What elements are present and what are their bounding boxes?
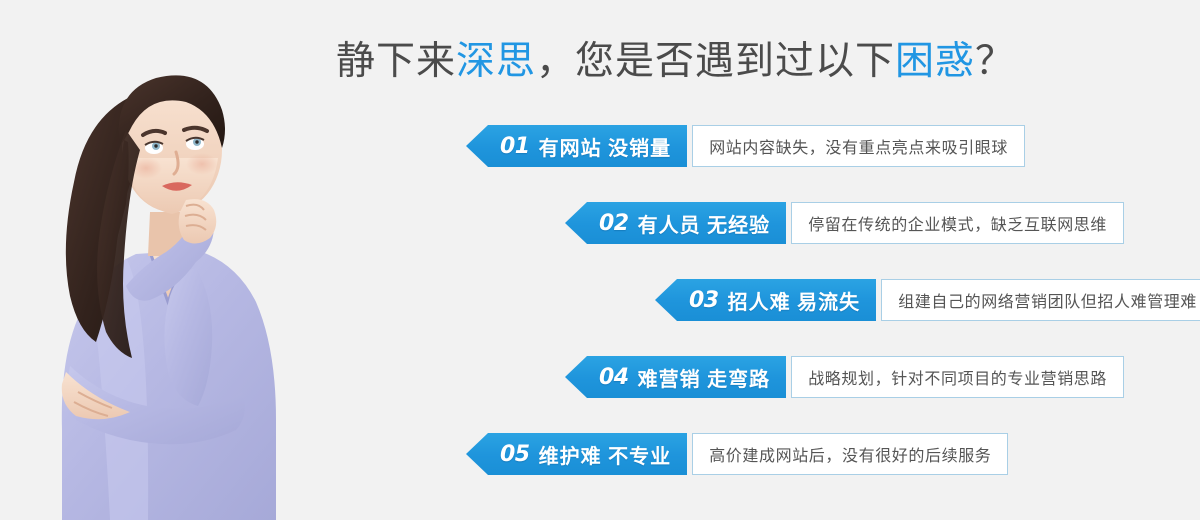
list-item[interactable]: 02 有人员 无经验 停留在传统的企业模式，缺乏互联网思维 <box>565 202 1124 244</box>
list-item[interactable]: 01 有网站 没销量 网站内容缺失，没有重点亮点来吸引眼球 <box>466 125 1025 167</box>
item-title: 难营销 走弯路 <box>638 363 771 392</box>
item-number: 03 <box>689 288 719 313</box>
item-number: 04 <box>599 365 629 390</box>
title-comma: ， <box>536 40 575 83</box>
promo-banner: 静下来深思，您是否遇到过以下困惑？ <box>0 0 1200 520</box>
item-badge[interactable]: 05 维护难 不专业 <box>466 433 687 475</box>
item-title: 招人难 易流失 <box>728 286 861 315</box>
item-number: 02 <box>599 211 629 236</box>
title-highlight-1: 深思 <box>456 40 536 83</box>
item-description: 组建自己的网络营销团队但招人难管理难 <box>881 279 1200 321</box>
list-item[interactable]: 03 招人难 易流失 组建自己的网络营销团队但招人难管理难 <box>655 279 1200 321</box>
title-part-2: 您是否遇到过以下 <box>575 40 895 83</box>
problem-list: 01 有网站 没销量 网站内容缺失，没有重点亮点来吸引眼球 02 有人员 无经验… <box>0 125 1200 495</box>
title-highlight-2: 困惑 <box>895 40 975 83</box>
item-title: 有人员 无经验 <box>638 209 771 238</box>
list-item[interactable]: 04 难营销 走弯路 战略规划，针对不同项目的专业营销思路 <box>565 356 1124 398</box>
item-description: 高价建成网站后，没有很好的后续服务 <box>692 433 1008 475</box>
item-title: 有网站 没销量 <box>539 132 672 161</box>
item-number: 05 <box>500 442 530 467</box>
item-description: 战略规划，针对不同项目的专业营销思路 <box>791 356 1124 398</box>
item-description: 网站内容缺失，没有重点亮点来吸引眼球 <box>692 125 1025 167</box>
item-badge[interactable]: 03 招人难 易流失 <box>655 279 876 321</box>
item-badge[interactable]: 01 有网站 没销量 <box>466 125 687 167</box>
item-number: 01 <box>500 134 530 159</box>
item-badge[interactable]: 02 有人员 无经验 <box>565 202 786 244</box>
item-title: 维护难 不专业 <box>539 440 672 469</box>
item-description: 停留在传统的企业模式，缺乏互联网思维 <box>791 202 1124 244</box>
title-question-mark: ？ <box>975 40 1014 83</box>
item-badge[interactable]: 04 难营销 走弯路 <box>565 356 786 398</box>
title-part-1: 静下来 <box>336 40 456 83</box>
list-item[interactable]: 05 维护难 不专业 高价建成网站后，没有很好的后续服务 <box>466 433 1008 475</box>
